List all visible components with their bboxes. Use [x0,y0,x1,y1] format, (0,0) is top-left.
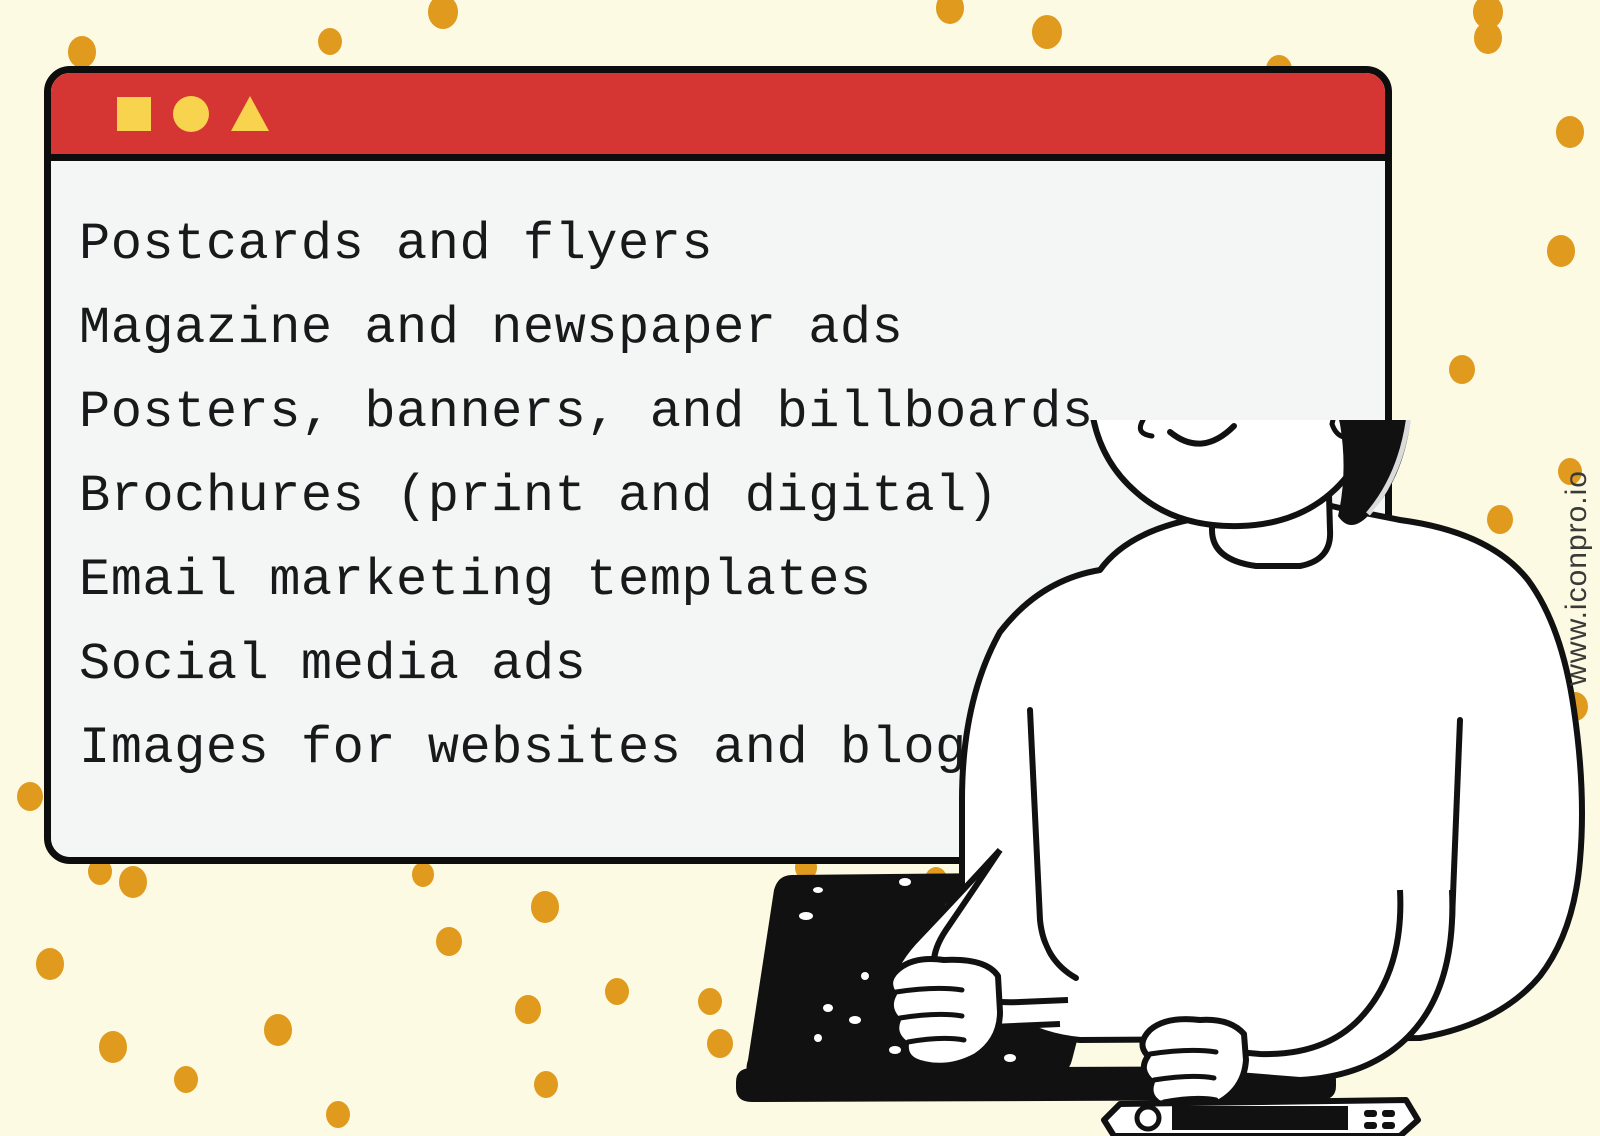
list-item: Email marketing templates [79,539,1385,623]
laptop-base [736,1066,1336,1102]
background-dot [318,28,342,55]
square-shape-icon[interactable] [117,97,151,131]
background-dot [925,867,947,892]
list-item: Images for websites and blogs [79,707,1385,791]
background-dot [428,0,458,29]
illustration-canvas: Postcards and flyers Magazine and newspa… [0,0,1600,1136]
background-dot [698,988,722,1015]
background-dot [1474,22,1502,54]
background-dot [174,1066,198,1093]
background-dot [1473,0,1503,29]
triangle-shape-icon[interactable] [231,96,269,131]
background-dot [1032,15,1062,49]
background-dot [1521,880,1545,907]
circle-shape-icon[interactable] [173,96,209,132]
person-left-arm [891,850,1068,1028]
background-dot [866,1042,890,1069]
window-content-area: Postcards and flyers Magazine and newspa… [51,161,1385,857]
background-dot [264,1014,292,1046]
background-dot [707,1029,733,1058]
background-dot [914,927,936,952]
deliverables-list: Postcards and flyers Magazine and newspa… [79,203,1385,791]
background-dot [534,1071,558,1098]
window-title-bar [51,73,1385,161]
background-dot [1416,848,1442,877]
background-dot [1556,116,1584,148]
person-right-arm [1192,890,1452,1080]
list-item: Social media ads [79,623,1385,707]
background-dot [515,995,541,1024]
background-dot [1547,235,1575,267]
background-dot [936,0,964,24]
background-dot [36,948,64,980]
background-dot [68,36,96,68]
watermark-url: www.iconpro.io [1560,470,1594,686]
background-dot [412,862,434,887]
background-dot [1429,643,1453,670]
background-dot [1176,1020,1202,1049]
background-dot [605,978,629,1005]
background-dot [326,1101,350,1128]
background-dot [820,988,844,1015]
background-dot [436,927,462,956]
list-item: Postcards and flyers [79,203,1385,287]
background-dot [99,1031,127,1063]
list-item: Posters, banners, and billboards [79,371,1385,455]
handheld-device[interactable] [1104,1100,1418,1136]
background-dot [1487,505,1513,534]
laptop-screen [747,872,1117,1078]
app-window: Postcards and flyers Magazine and newspa… [44,66,1392,864]
background-dot [1449,355,1475,384]
background-dot [531,891,559,923]
background-dot [1562,692,1588,721]
background-dot [119,866,147,898]
list-item: Magazine and newspaper ads [79,287,1385,371]
person-right-hand [1142,1019,1246,1110]
background-dot [17,782,43,811]
list-item: Brochures (print and digital) [79,455,1385,539]
person-left-hand [890,959,1000,1066]
